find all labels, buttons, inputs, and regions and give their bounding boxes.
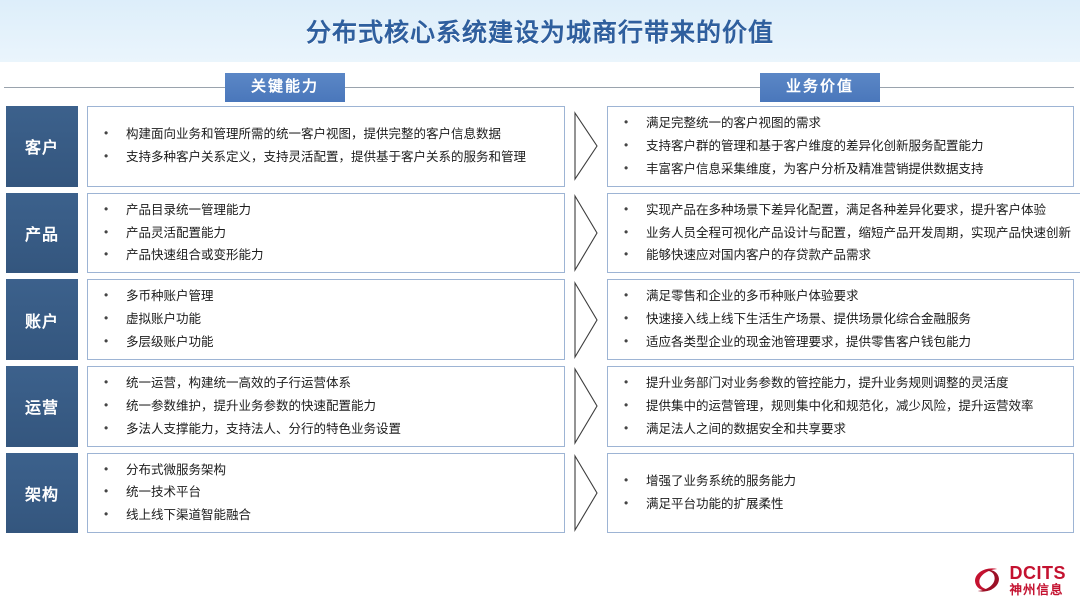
logo-name-en: DCITS [1010,564,1067,582]
header-rule-right-2 [880,87,1074,88]
chevron-right-icon [565,193,607,274]
capability-panel: 多币种账户管理 虚拟账户功能 多层级账户功能 [87,279,565,360]
value-panel: 实现产品在多种场景下差异化配置，满足各种差异化要求，提升客户体验 业务人员全程可… [607,193,1080,274]
chevron-right-icon [565,453,607,534]
category-chip[interactable]: 客户 [6,106,78,187]
list-item: 虚拟账户功能 [100,311,552,328]
category-chip[interactable]: 运营 [6,366,78,447]
list-item: 产品灵活配置能力 [100,225,552,242]
value-list: 满足零售和企业的多币种账户体验要求 快速接入线上线下生活生产场景、提供场景化综合… [620,288,1061,351]
list-item: 线上线下渠道智能融合 [100,507,552,524]
list-item: 产品快速组合或变形能力 [100,247,552,264]
page-title: 分布式核心系统建设为城商行带来的价值 [306,13,774,49]
list-item: 统一技术平台 [100,484,552,501]
column-header-values: 业务价值 [566,70,1080,104]
category-chip[interactable]: 账户 [6,279,78,360]
list-item: 满足平台功能的扩展柔性 [620,496,1061,513]
chevron-right-icon [565,366,607,447]
list-item: 多币种账户管理 [100,288,552,305]
matrix-row: 架构 分布式微服务架构 统一技术平台 线上线下渠道智能融合 增强了业务系统的服务… [6,453,1074,534]
matrix-row: 产品 产品目录统一管理能力 产品灵活配置能力 产品快速组合或变形能力 实现产品在… [6,193,1074,274]
capability-panel: 分布式微服务架构 统一技术平台 线上线下渠道智能融合 [87,453,565,534]
slide-footer: DCITS 神州信息 [0,547,1080,605]
value-panel: 满足零售和企业的多币种账户体验要求 快速接入线上线下生活生产场景、提供场景化综合… [607,279,1074,360]
value-list: 实现产品在多种场景下差异化配置，满足各种差异化要求，提升客户体验 业务人员全程可… [620,202,1071,265]
matrix-row: 账户 多币种账户管理 虚拟账户功能 多层级账户功能 满足零售和企业的多币种账户体… [6,279,1074,360]
value-panel: 增强了业务系统的服务能力 满足平台功能的扩展柔性 [607,453,1074,534]
category-chip[interactable]: 架构 [6,453,78,534]
list-item: 支持多种客户关系定义，支持灵活配置，提供基于客户关系的服务和管理 [100,149,552,166]
capability-panel: 构建面向业务和管理所需的统一客户视图，提供完整的客户信息数据 支持多种客户关系定… [87,106,565,187]
capability-list: 统一运营，构建统一高效的子行运营体系 统一参数维护，提升业务参数的快速配置能力 … [100,375,552,438]
capability-list: 构建面向业务和管理所需的统一客户视图，提供完整的客户信息数据 支持多种客户关系定… [100,126,552,166]
column-header-band: 关键能力 业务价值 [0,62,1080,104]
list-item: 多法人支撑能力，支持法人、分行的特色业务设置 [100,421,552,438]
matrix-row: 运营 统一运营，构建统一高效的子行运营体系 统一参数维护，提升业务参数的快速配置… [6,366,1074,447]
value-list: 满足完整统一的客户视图的需求 支持客户群的管理和基于客户维度的差异化创新服务配置… [620,115,1061,178]
header-rule-left [4,87,225,88]
matrix-row: 客户 构建面向业务和管理所需的统一客户视图，提供完整的客户信息数据 支持多种客户… [6,106,1074,187]
company-logo: DCITS 神州信息 [970,563,1067,597]
chevron-right-icon [565,279,607,360]
category-chip[interactable]: 产品 [6,193,78,274]
list-item: 满足零售和企业的多币种账户体验要求 [620,288,1061,305]
column-header-capabilities: 关键能力 [0,70,566,104]
list-item: 能够快速应对国内客户的存贷款产品需求 [620,247,1071,264]
list-item: 满足法人之间的数据安全和共享要求 [620,421,1061,438]
dcits-swoosh-icon [970,563,1004,597]
list-item: 提升业务部门对业务参数的管控能力，提升业务规则调整的灵活度 [620,375,1061,392]
capability-list: 多币种账户管理 虚拟账户功能 多层级账户功能 [100,288,552,351]
list-item: 分布式微服务架构 [100,462,552,479]
column-badge-capabilities: 关键能力 [225,73,345,102]
column-badge-values: 业务价值 [760,73,880,102]
list-item: 提供集中的运营管理，规则集中化和规范化，减少风险，提升运营效率 [620,398,1061,415]
header-rule-left-2 [566,87,760,88]
list-item: 统一运营，构建统一高效的子行运营体系 [100,375,552,392]
list-item: 适应各类型企业的现金池管理要求，提供零售客户钱包能力 [620,334,1061,351]
logo-name-cn: 神州信息 [1010,584,1067,597]
header-rule-right [345,87,566,88]
value-panel: 提升业务部门对业务参数的管控能力，提升业务规则调整的灵活度 提供集中的运营管理，… [607,366,1074,447]
capability-panel: 产品目录统一管理能力 产品灵活配置能力 产品快速组合或变形能力 [87,193,565,274]
list-item: 增强了业务系统的服务能力 [620,473,1061,490]
slide-header: 分布式核心系统建设为城商行带来的价值 [0,0,1080,62]
list-item: 构建面向业务和管理所需的统一客户视图，提供完整的客户信息数据 [100,126,552,143]
list-item: 业务人员全程可视化产品设计与配置，缩短产品开发周期，实现产品快速创新 [620,225,1071,242]
list-item: 实现产品在多种场景下差异化配置，满足各种差异化要求，提升客户体验 [620,202,1071,219]
value-list: 提升业务部门对业务参数的管控能力，提升业务规则调整的灵活度 提供集中的运营管理，… [620,375,1061,438]
chevron-right-icon [565,106,607,187]
list-item: 统一参数维护，提升业务参数的快速配置能力 [100,398,552,415]
capability-list: 产品目录统一管理能力 产品灵活配置能力 产品快速组合或变形能力 [100,202,552,265]
list-item: 产品目录统一管理能力 [100,202,552,219]
capability-panel: 统一运营，构建统一高效的子行运营体系 统一参数维护，提升业务参数的快速配置能力 … [87,366,565,447]
list-item: 满足完整统一的客户视图的需求 [620,115,1061,132]
list-item: 丰富客户信息采集维度，为客户分析及精准营销提供数据支持 [620,161,1061,178]
list-item: 支持客户群的管理和基于客户维度的差异化创新服务配置能力 [620,138,1061,155]
logo-text: DCITS 神州信息 [1010,564,1067,597]
value-panel: 满足完整统一的客户视图的需求 支持客户群的管理和基于客户维度的差异化创新服务配置… [607,106,1074,187]
value-list: 增强了业务系统的服务能力 满足平台功能的扩展柔性 [620,473,1061,513]
value-matrix: 客户 构建面向业务和管理所需的统一客户视图，提供完整的客户信息数据 支持多种客户… [0,104,1080,533]
list-item: 多层级账户功能 [100,334,552,351]
capability-list: 分布式微服务架构 统一技术平台 线上线下渠道智能融合 [100,462,552,525]
list-item: 快速接入线上线下生活生产场景、提供场景化综合金融服务 [620,311,1061,328]
